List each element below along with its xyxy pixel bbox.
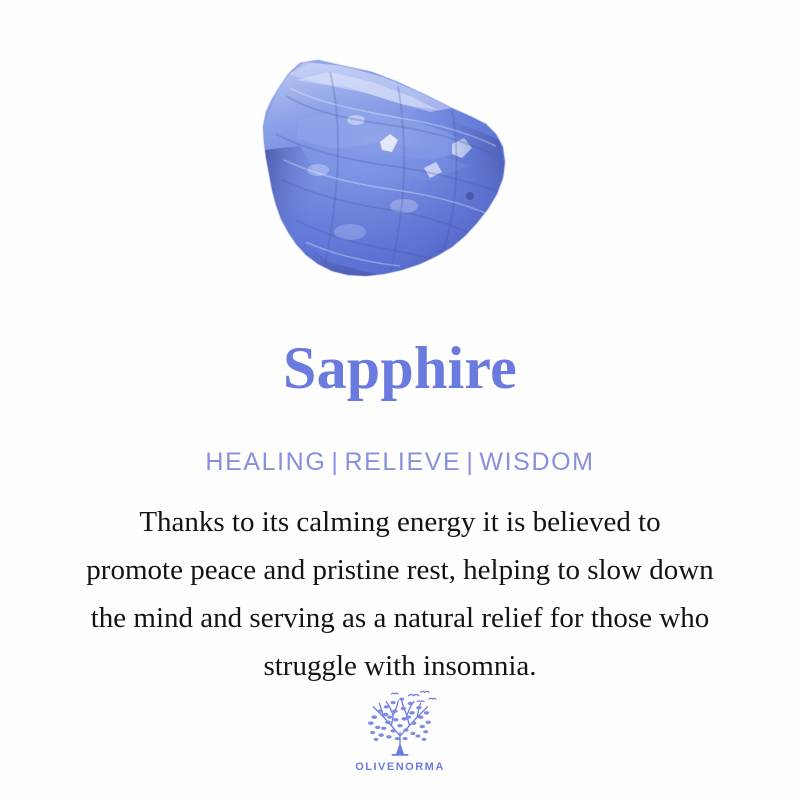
page-title: Sapphire — [0, 337, 800, 400]
description-line-3: the mind and serving as a natural relief… — [30, 594, 770, 642]
tree-trunk-base — [396, 743, 405, 755]
description-line-1: Thanks to its calming energy it is belie… — [30, 498, 770, 546]
keyword-separator-1: | — [326, 448, 344, 476]
keyword-wisdom: WISDOM — [479, 448, 594, 476]
tree-of-life-icon — [357, 688, 443, 760]
keyword-healing: HEALING — [205, 448, 326, 476]
gemstone-image — [0, 0, 800, 320]
birds-icon — [391, 691, 436, 702]
raw-sapphire-crystal-icon — [0, 0, 800, 320]
brand-wordmark: OLIVENORMA — [355, 761, 445, 773]
crystal-body — [255, 50, 520, 290]
brand-logo: OLIVENORMA — [0, 688, 800, 773]
keyword-relieve: RELIEVE — [345, 448, 462, 476]
keyword-line: HEALING|RELIEVE|WISDOM — [0, 448, 800, 477]
description-text: Thanks to its calming energy it is belie… — [30, 498, 770, 690]
description-line-2: promote peace and pristine rest, helping… — [30, 546, 770, 594]
description-line-4: struggle with insomnia. — [30, 642, 770, 690]
keyword-separator-2: | — [461, 448, 479, 476]
tree-ground — [391, 754, 408, 756]
gemstone-info-card: Sapphire HEALING|RELIEVE|WISDOM Thanks t… — [0, 0, 800, 800]
